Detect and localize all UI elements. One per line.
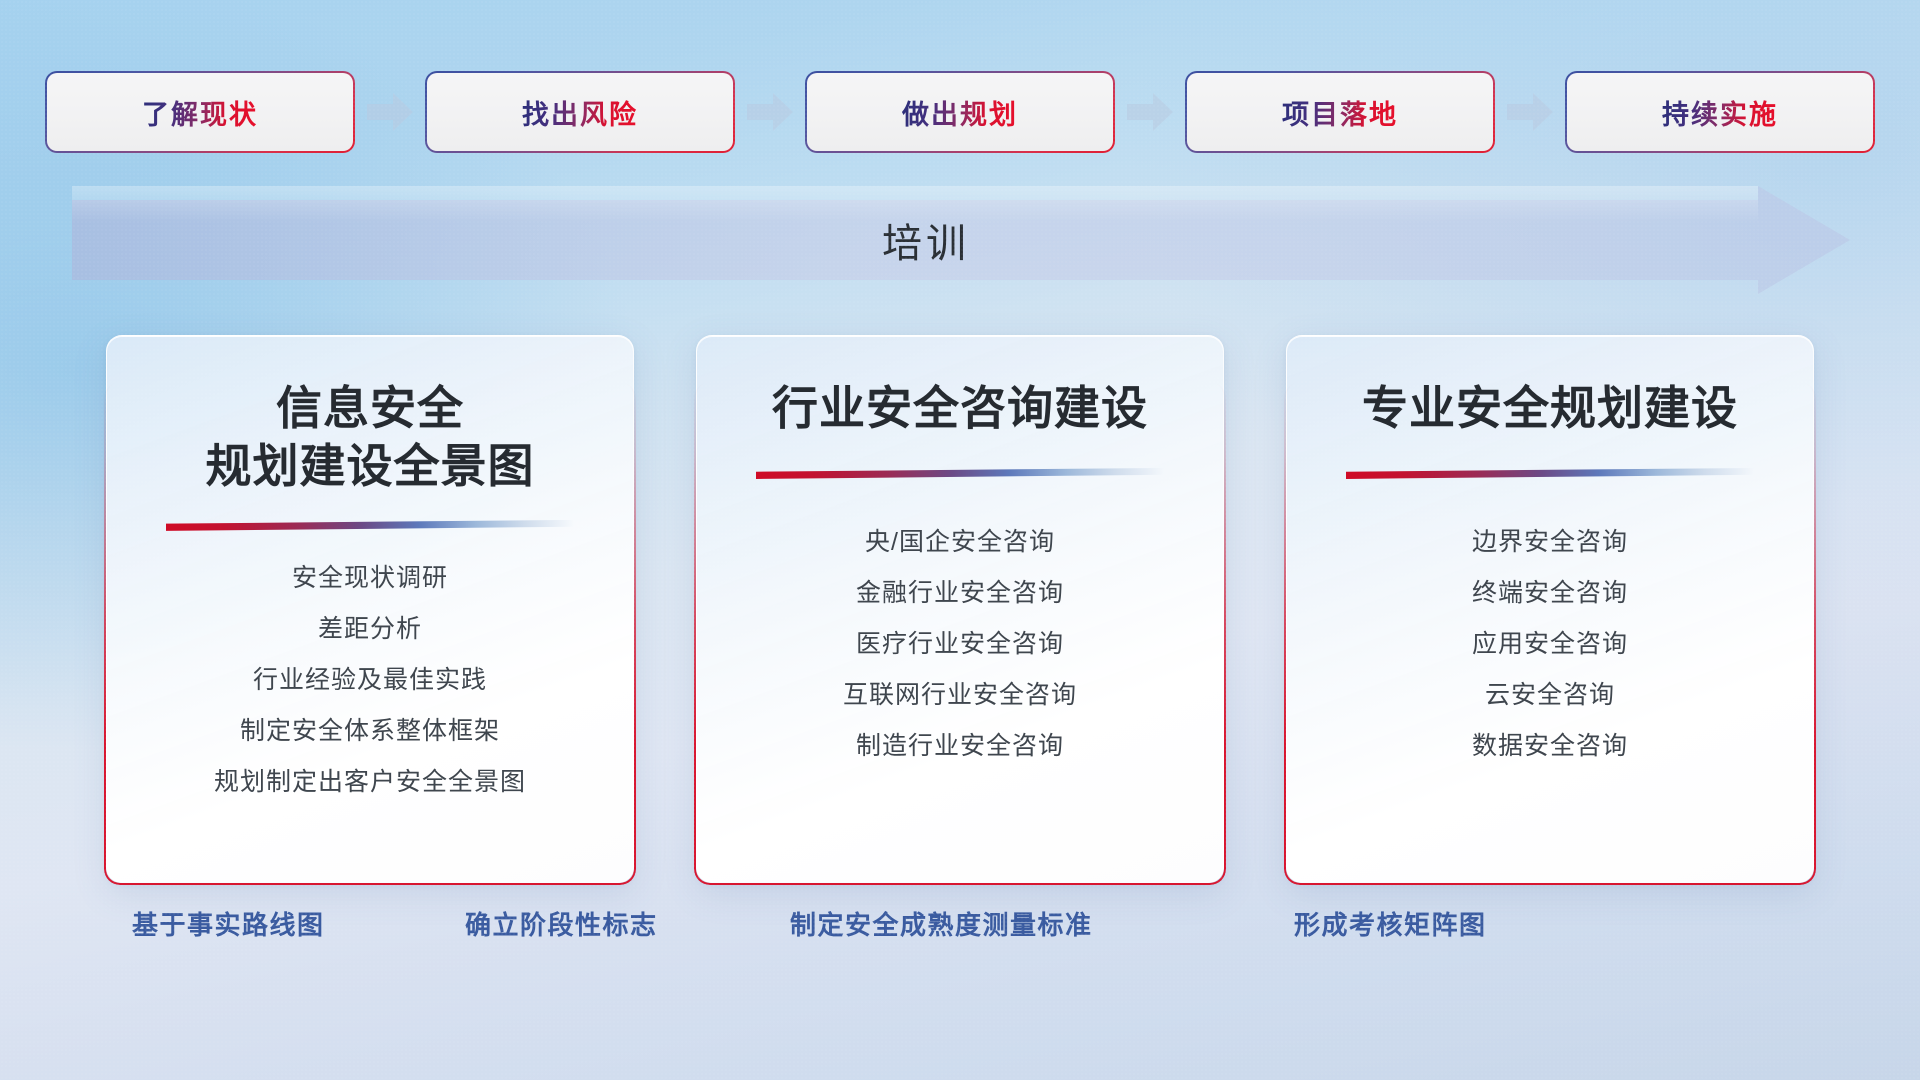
card-title-line-1: 信息安全	[276, 382, 464, 434]
arrow-right-icon	[1504, 90, 1556, 134]
step-label-1: 了解现状	[142, 93, 258, 132]
list-item: 云安全咨询	[1485, 670, 1615, 721]
list-item: 数据安全咨询	[1472, 721, 1628, 772]
arrow-right-icon	[1124, 90, 1176, 134]
arrow-right-icon	[364, 90, 416, 134]
step-box-2[interactable]: 找出风险	[427, 73, 733, 151]
list-item: 互联网行业安全咨询	[843, 670, 1077, 721]
banner-title: 培训	[72, 186, 1850, 294]
card-title: 专业安全规划建设	[1317, 380, 1783, 438]
card-title: 信息安全 规划建设全景图	[137, 380, 603, 496]
list-item: 制造行业安全咨询	[856, 721, 1064, 772]
list-item: 金融行业安全咨询	[856, 568, 1064, 619]
list-item: 规划制定出客户安全全景图	[214, 757, 526, 808]
card-divider	[166, 520, 574, 531]
card-divider	[756, 468, 1164, 479]
list-item: 制定安全体系整体框架	[240, 706, 500, 757]
card-title-line-2: 规划建设全景图	[137, 438, 603, 496]
card-industry-consulting[interactable]: 行业安全咨询建设 央/国企安全咨询 金融行业安全咨询 医疗行业安全咨询 互联网行…	[696, 335, 1224, 883]
list-item: 应用安全咨询	[1472, 619, 1628, 670]
card-title: 行业安全咨询建设	[727, 380, 1193, 438]
footnote-label-1: 基于事实路线图	[132, 905, 325, 942]
card-title-line-1: 专业安全规划建设	[1362, 382, 1738, 434]
list-item: 行业经验及最佳实践	[253, 655, 487, 706]
step-label-4: 项目落地	[1282, 93, 1398, 132]
process-step-row: 了解现状 找出风险 做出规划 项目落地	[0, 72, 1920, 152]
footnote-label-4: 形成考核矩阵图	[1294, 905, 1487, 942]
card-item-list: 安全现状调研 差距分析 行业经验及最佳实践 制定安全体系整体框架 规划制定出客户…	[137, 553, 603, 808]
arrow-right-icon	[744, 90, 796, 134]
footnote-label-3: 制定安全成熟度测量标准	[790, 905, 1093, 942]
list-item: 医疗行业安全咨询	[856, 619, 1064, 670]
list-item: 终端安全咨询	[1472, 568, 1628, 619]
card-item-list: 边界安全咨询 终端安全咨询 应用安全咨询 云安全咨询 数据安全咨询	[1317, 517, 1783, 772]
card-title-line-1: 行业安全咨询建设	[772, 382, 1148, 434]
slide-canvas: 了解现状 找出风险 做出规划 项目落地	[0, 0, 1920, 1080]
step-box-4[interactable]: 项目落地	[1187, 73, 1493, 151]
training-banner: 培训	[72, 186, 1850, 294]
card-row: 信息安全 规划建设全景图 安全现状调研 差距分析 行业经验及最佳实践 制定安全体…	[0, 335, 1920, 890]
card-divider	[1346, 468, 1754, 479]
list-item: 差距分析	[318, 604, 422, 655]
list-item: 边界安全咨询	[1472, 517, 1628, 568]
footnote-label-2: 确立阶段性标志	[465, 905, 658, 942]
step-label-3: 做出规划	[902, 93, 1018, 132]
step-label-2: 找出风险	[522, 93, 638, 132]
card-item-list: 央/国企安全咨询 金融行业安全咨询 医疗行业安全咨询 互联网行业安全咨询 制造行…	[727, 517, 1193, 772]
footnote-row: 基于事实路线图 确立阶段性标志 制定安全成熟度测量标准 形成考核矩阵图	[0, 905, 1920, 965]
step-box-5[interactable]: 持续实施	[1567, 73, 1873, 151]
card-professional-planning[interactable]: 专业安全规划建设 边界安全咨询 终端安全咨询 应用安全咨询 云安全咨询 数据安全…	[1286, 335, 1814, 883]
card-panorama[interactable]: 信息安全 规划建设全景图 安全现状调研 差距分析 行业经验及最佳实践 制定安全体…	[106, 335, 634, 883]
list-item: 安全现状调研	[292, 553, 448, 604]
step-label-5: 持续实施	[1662, 93, 1778, 132]
step-box-3[interactable]: 做出规划	[807, 73, 1113, 151]
list-item: 央/国企安全咨询	[865, 517, 1055, 568]
step-box-1[interactable]: 了解现状	[47, 73, 353, 151]
